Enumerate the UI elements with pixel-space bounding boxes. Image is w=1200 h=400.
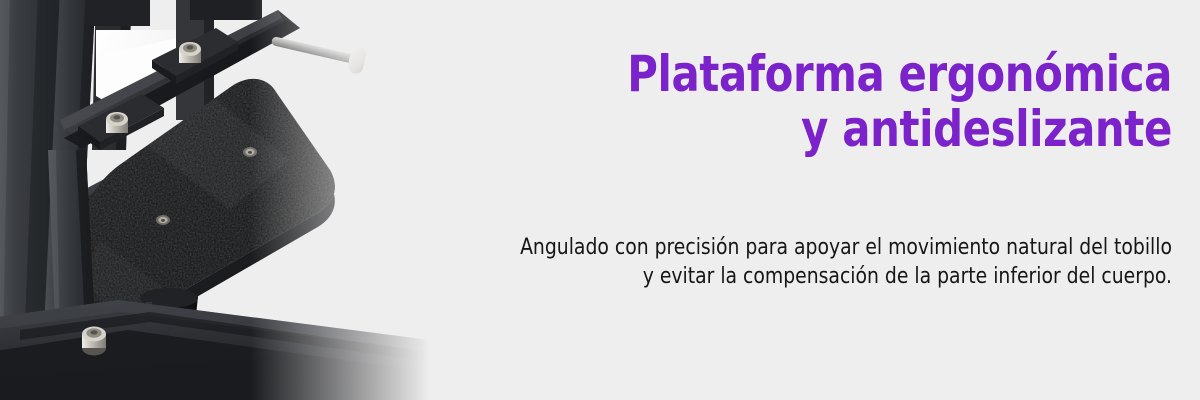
headline-line-2: y antideslizante <box>454 102 1172 157</box>
product-illustration <box>0 0 430 400</box>
page-title: Plataforma ergonómica y antideslizante <box>454 47 1172 157</box>
bolt-lower <box>106 112 128 133</box>
headline-line-1: Plataforma ergonómica <box>454 47 1172 102</box>
subcopy-line-1: Angulado con precisión para apoyar el mo… <box>439 233 1172 262</box>
platform-screw-lower <box>156 215 170 225</box>
product-image <box>0 0 430 400</box>
bolt-base <box>82 327 106 356</box>
promo-banner: Plataforma ergonómica y antideslizante A… <box>0 0 1200 400</box>
subcopy-text: Angulado con precisión para apoyar el mo… <box>439 233 1172 291</box>
bolt-upper <box>179 42 201 63</box>
subcopy-line-2: y evitar la compensación de la parte inf… <box>439 262 1172 291</box>
banner-copy: Plataforma ergonómica y antideslizante A… <box>400 0 1172 400</box>
